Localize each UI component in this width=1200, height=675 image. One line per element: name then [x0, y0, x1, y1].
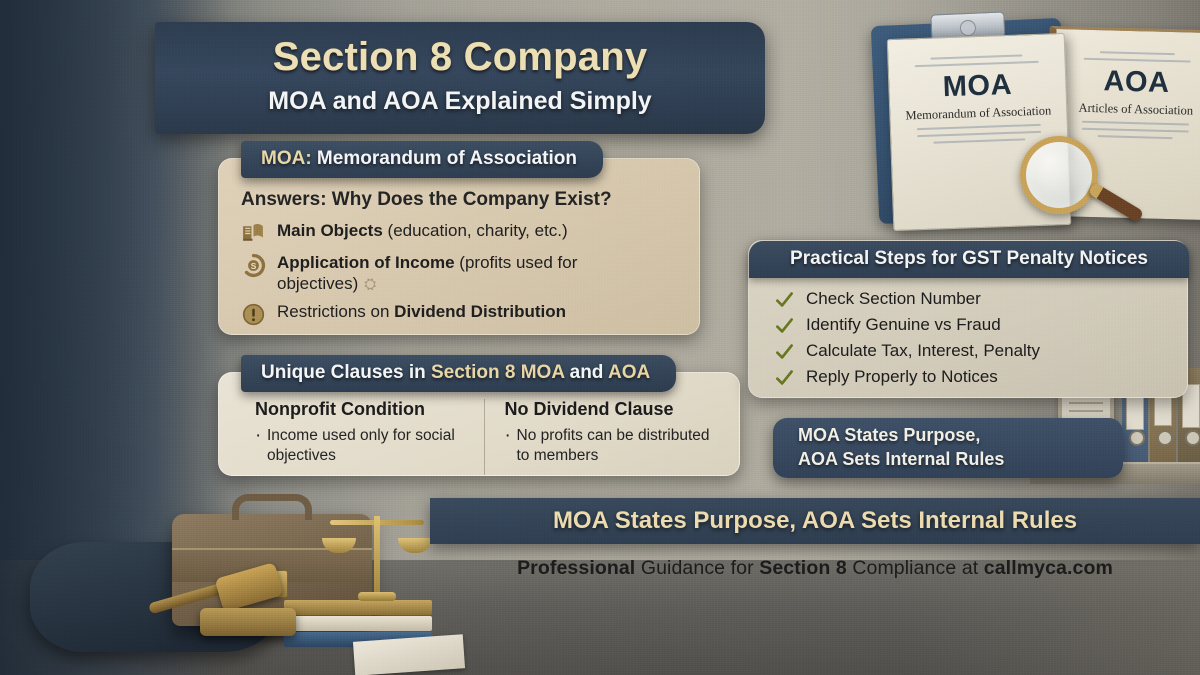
step-item: Identify Genuine vs Fraud: [775, 315, 1187, 335]
footer-banner-label: MOA States Purpose, AOA Sets Internal Ru…: [553, 507, 1077, 535]
clause-bullet: Income used only for social objectives: [255, 426, 470, 465]
footer-tagline: Professional Guidance for Section 8 Comp…: [430, 548, 1200, 588]
moa-list-item: Main Objects (education, charity, etc.): [241, 220, 681, 246]
clauses-header-c: and: [564, 362, 608, 383]
aoa-subtitle: Articles of Association: [1068, 100, 1200, 119]
scales-of-justice-icon: [322, 504, 432, 614]
check-icon: [775, 290, 794, 309]
page-title: Section 8 Company: [273, 36, 648, 78]
callout-line-2: AOA Sets Internal Rules: [798, 448, 1123, 472]
step-label: Check Section Number: [806, 289, 981, 309]
exclamation-circle-icon: [241, 302, 266, 327]
clause-bullet: No profits can be distributed to members: [505, 426, 720, 465]
step-label: Calculate Tax, Interest, Penalty: [806, 341, 1040, 361]
moa-question: Answers: Why Does the Company Exist?: [241, 189, 681, 211]
check-icon: [775, 316, 794, 335]
decorative-glyph-icon: ⛭: [364, 276, 376, 293]
tagline-part-3: Section 8: [759, 557, 847, 579]
moa-card-header: MOA: Memorandum of Association: [241, 141, 603, 178]
legal-items-illustration: [22, 492, 442, 675]
aoa-abbreviation: AOA: [1069, 64, 1200, 101]
moa-item-bold: Application of Income: [277, 253, 455, 272]
moa-item-text: Application of Income (profits used for …: [277, 252, 681, 295]
briefcase-handle-icon: [232, 494, 312, 520]
step-label: Reply Properly to Notices: [806, 367, 998, 387]
clauses-header-d: AOA: [608, 362, 650, 383]
clauses-header-a: Unique Clauses in: [261, 362, 431, 383]
step-label: Identify Genuine vs Fraud: [806, 315, 1001, 335]
moa-item-prefix: Restrictions on: [277, 302, 389, 321]
steps-header-label: Practical Steps for GST Penalty Notices: [790, 248, 1148, 269]
clause-column: No Dividend Clause No profits can be dis…: [484, 399, 734, 475]
moa-abbreviation: MOA: [901, 67, 1054, 105]
check-icon: [775, 342, 794, 361]
moa-list-item: Restrictions on Dividend Distribution: [241, 301, 681, 327]
tagline-part-1: Professional: [517, 557, 635, 579]
moa-item-text: Main Objects (education, charity, etc.): [277, 220, 568, 241]
callout-line-1: MOA States Purpose,: [798, 424, 1123, 448]
step-item: Calculate Tax, Interest, Penalty: [775, 341, 1187, 361]
moa-card: MOA: Memorandum of Association Answers: …: [218, 158, 700, 335]
tagline-part-4: Compliance at: [847, 557, 984, 579]
clauses-card-header: Unique Clauses in Section 8 MOA and AOA: [241, 355, 676, 392]
tagline-part-2: Guidance for: [635, 557, 759, 579]
moa-item-bold: Main Objects: [277, 221, 383, 240]
steps-card-header: Practical Steps for GST Penalty Notices: [749, 241, 1189, 278]
step-item: Check Section Number: [775, 289, 1187, 309]
clauses-header-b: Section 8 MOA: [431, 362, 564, 383]
documents-illustration: AOA Articles of Association MOA Memorand…: [865, 8, 1195, 238]
footer-tagline-text: Professional Guidance for Section 8 Comp…: [517, 557, 1113, 580]
step-item: Reply Properly to Notices: [775, 367, 1187, 387]
tagline-part-5: callmyca.com: [984, 557, 1113, 579]
clause-column: Nonprofit Condition Income used only for…: [219, 399, 484, 475]
summary-callout: MOA States Purpose, AOA Sets Internal Ru…: [773, 418, 1123, 478]
svg-text:S: S: [251, 261, 257, 271]
moa-item-text: Restrictions on Dividend Distribution: [277, 301, 566, 322]
moa-item-rest: (education, charity, etc.): [383, 221, 568, 240]
magnifying-glass-icon: [1020, 136, 1098, 214]
footer-banner: MOA States Purpose, AOA Sets Internal Ru…: [430, 498, 1200, 544]
unique-clauses-card: Unique Clauses in Section 8 MOA and AOA …: [218, 372, 740, 476]
moa-subtitle: Memorandum of Association: [902, 103, 1054, 124]
moa-item-bold: Dividend Distribution: [389, 302, 566, 321]
clause-title: Nonprofit Condition: [255, 399, 470, 420]
book-icon: [241, 221, 266, 246]
infographic-canvas: AOA Articles of Association MOA Memorand…: [0, 0, 1200, 675]
moa-list-item: S Application of Income (profits used fo…: [241, 252, 681, 295]
page-subtitle: MOA and AOA Explained Simply: [268, 87, 651, 116]
practical-steps-card: Practical Steps for GST Penalty Notices …: [748, 240, 1188, 398]
paper-document-icon: [353, 634, 465, 675]
money-circle-icon: S: [241, 253, 266, 278]
gavel-sound-block-icon: [200, 608, 296, 636]
moa-header-prefix: MOA:: [261, 148, 312, 169]
clause-title: No Dividend Clause: [505, 399, 720, 420]
check-icon: [775, 368, 794, 387]
title-banner: Section 8 Company MOA and AOA Explained …: [155, 22, 765, 134]
moa-header-rest: Memorandum of Association: [312, 148, 577, 169]
